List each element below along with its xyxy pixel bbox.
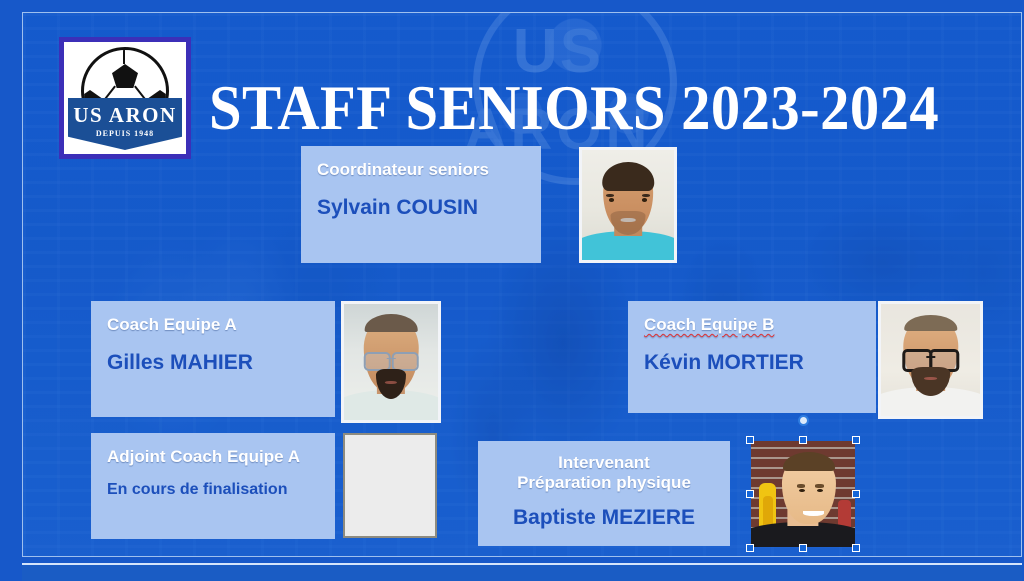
- staff-card-coach-a[interactable]: Coach Equipe A Gilles MAHIER: [91, 301, 443, 425]
- staff-card-coordinateur[interactable]: Coordinateur seniors Sylvain COUSIN: [301, 146, 661, 271]
- coach-a-photo[interactable]: [341, 301, 441, 423]
- coordinateur-role: Coordinateur seniors: [317, 160, 525, 180]
- staff-card-coach-b[interactable]: Coach Equipe B Kévin MORTIER: [628, 301, 983, 421]
- prepa-physique-role-line2: Préparation physique: [494, 473, 714, 493]
- editor-left-rail: [0, 0, 22, 579]
- club-logo-badge[interactable]: US ARON DEPUIS 1948: [59, 37, 191, 159]
- adjoint-coach-a-photo-placeholder[interactable]: [343, 433, 437, 538]
- slide-title[interactable]: STAFF SENIORS 2023-2024: [209, 77, 944, 140]
- prepa-physique-person: Baptiste MEZIERE: [494, 506, 714, 530]
- glasses-icon: [364, 352, 419, 367]
- club-name-banner: US ARON: [68, 98, 182, 132]
- coordinateur-person: Sylvain COUSIN: [317, 196, 525, 220]
- staff-card-adjoint-coach-a[interactable]: Adjoint Coach Equipe A En cours de final…: [91, 433, 443, 543]
- slide-canvas[interactable]: US ARON US ARON DEPUIS 1948 STAFF SENIOR…: [22, 12, 1022, 557]
- coach-a-infobox[interactable]: Coach Equipe A Gilles MAHIER: [91, 301, 335, 417]
- staff-card-prepa-physique[interactable]: Intervenant Préparation physique Baptist…: [478, 441, 868, 551]
- club-founded-banner: DEPUIS 1948: [68, 128, 182, 150]
- adjoint-coach-a-role: Adjoint Coach Equipe A: [107, 447, 319, 467]
- club-name-text: US ARON: [73, 105, 176, 126]
- portrait-baptiste-meziere: [751, 441, 855, 547]
- next-slide-strip[interactable]: [22, 563, 1022, 581]
- coordinateur-infobox[interactable]: Coordinateur seniors Sylvain COUSIN: [301, 146, 541, 263]
- portrait-sylvain-cousin: [582, 150, 674, 260]
- coach-b-infobox[interactable]: Coach Equipe B Kévin MORTIER: [628, 301, 876, 413]
- adjoint-coach-a-infobox[interactable]: Adjoint Coach Equipe A En cours de final…: [91, 433, 335, 539]
- coach-b-photo[interactable]: [878, 301, 983, 419]
- presentation-editor-window: US ARON US ARON DEPUIS 1948 STAFF SENIOR…: [0, 0, 1024, 579]
- coordinateur-photo[interactable]: [579, 147, 677, 263]
- portrait-gilles-mahier: [344, 304, 438, 420]
- coach-b-person: Kévin MORTIER: [644, 351, 860, 375]
- prepa-physique-role-line1: Intervenant: [494, 453, 714, 473]
- adjoint-coach-a-person: En cours de finalisation: [107, 481, 319, 499]
- prepa-physique-infobox[interactable]: Intervenant Préparation physique Baptist…: [478, 441, 730, 546]
- coach-b-role: Coach Equipe B: [644, 315, 860, 335]
- portrait-kevin-mortier: [881, 304, 980, 416]
- prepa-physique-photo[interactable]: [751, 441, 855, 547]
- coach-a-person: Gilles MAHIER: [107, 351, 319, 375]
- coach-a-role: Coach Equipe A: [107, 315, 319, 335]
- glasses-icon: [902, 349, 959, 366]
- club-founded-text: DEPUIS 1948: [96, 130, 154, 138]
